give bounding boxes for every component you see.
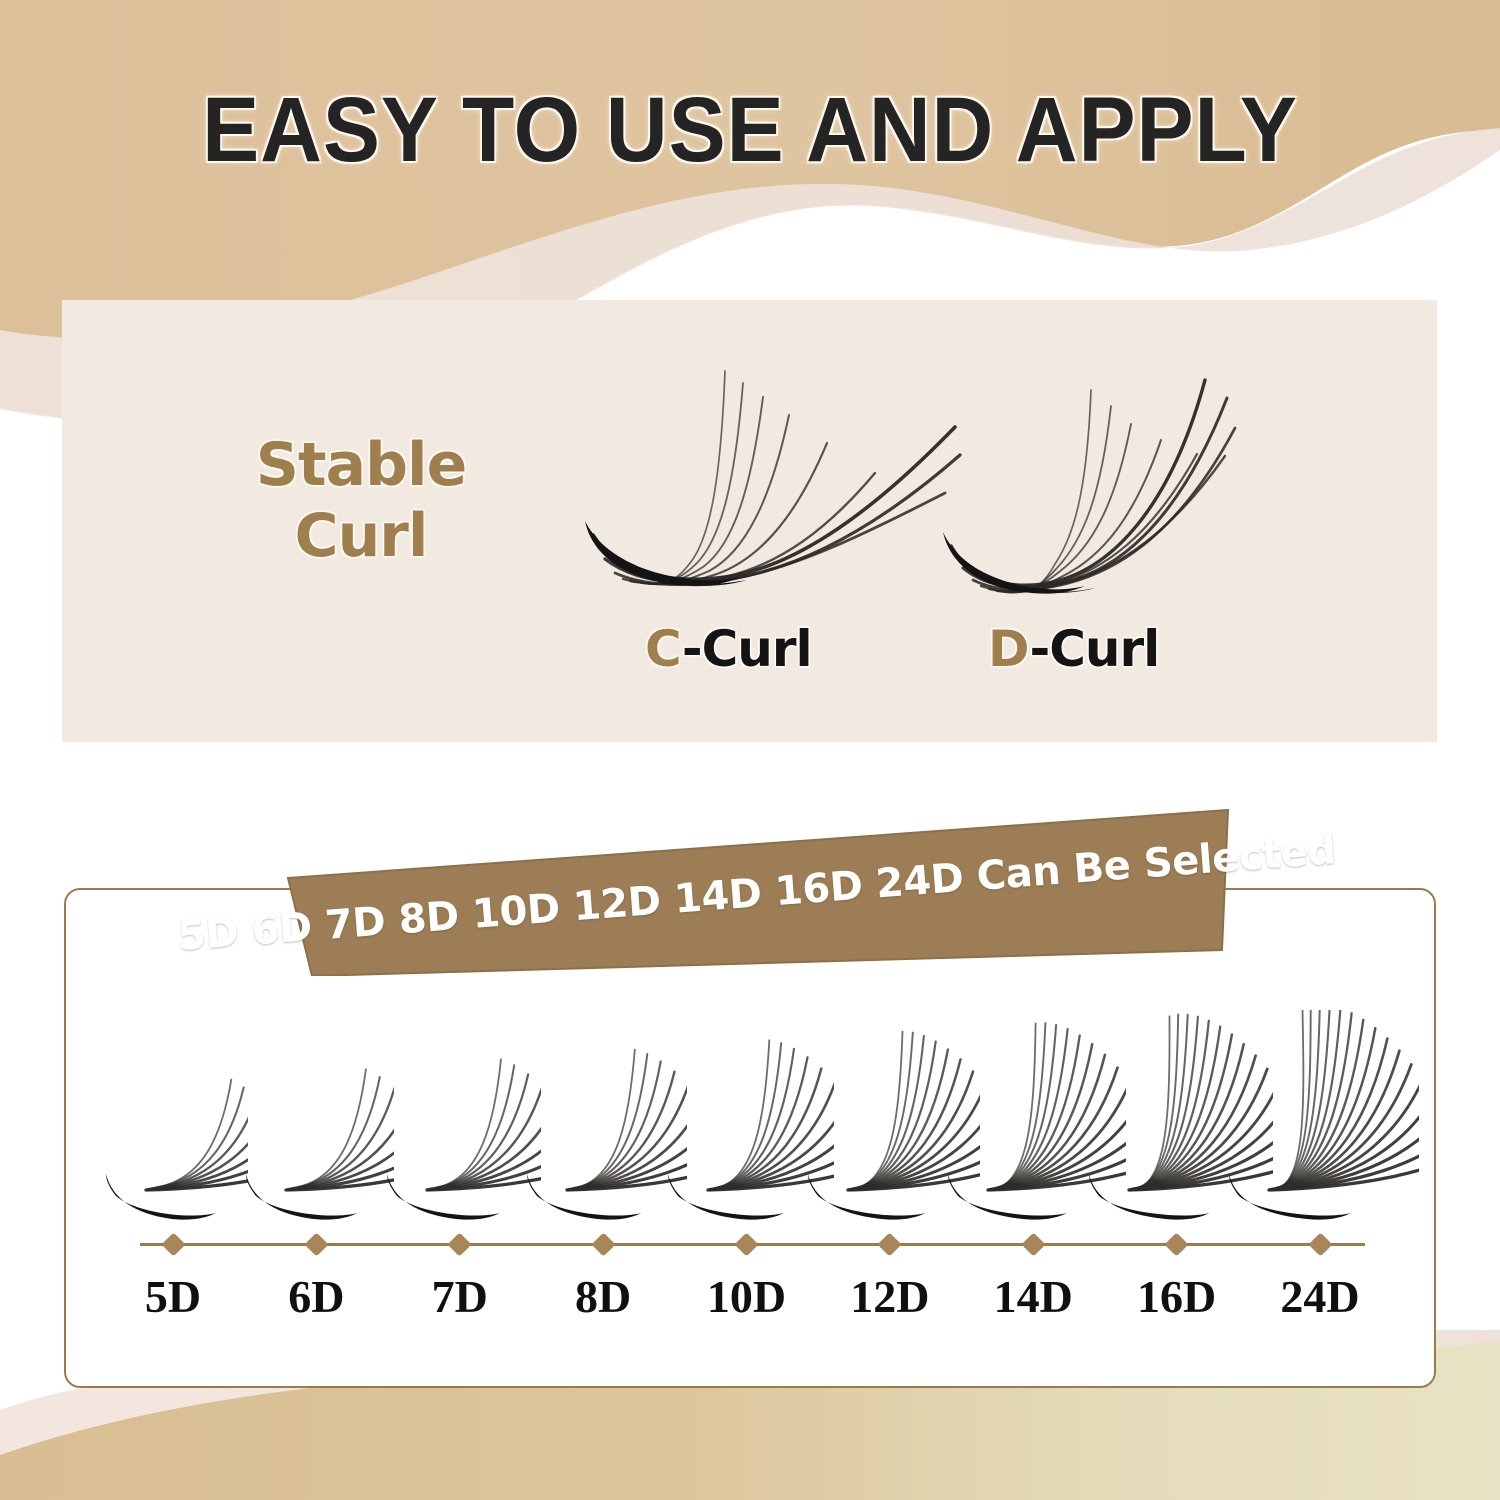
stable-curl-heading-line1: Stable: [196, 430, 526, 501]
d-curl-lash-fan: [935, 370, 1255, 615]
size-label-24d: 24D: [1280, 1270, 1359, 1323]
d-curl-caption: D-Curl: [988, 620, 1159, 678]
lash-fan-6d: [238, 1010, 394, 1225]
size-label-16d: 16D: [1137, 1270, 1216, 1323]
d-curl-suffix: -Curl: [1029, 620, 1159, 678]
infographic-stage: EASY TO USE AND APPLY Stable Curl: [0, 0, 1500, 1500]
fan-row: [64, 1010, 1436, 1225]
selection-ribbon: 5D 6D 7D 8D 10D 12D 14D 16D 24D Can Be S…: [270, 800, 1230, 976]
lash-fan-7d: [379, 1010, 541, 1225]
page-title: EASY TO USE AND APPLY: [53, 78, 1448, 183]
c-curl-prefix: C: [645, 620, 682, 678]
size-label-6d: 6D: [288, 1270, 344, 1323]
stable-curl-heading: Stable Curl: [196, 430, 526, 572]
size-label-5d: 5D: [145, 1270, 201, 1323]
c-curl-caption: C-Curl: [645, 620, 812, 678]
size-timeline: [140, 1243, 1365, 1246]
c-curl-lash-fan: [575, 345, 965, 615]
lash-fan-5d: [98, 1010, 248, 1225]
size-label-7d: 7D: [432, 1270, 488, 1323]
size-label-14d: 14D: [994, 1270, 1073, 1323]
stable-curl-heading-line2: Curl: [196, 501, 526, 572]
size-label-8d: 8D: [575, 1270, 631, 1323]
lash-fan-24d: [1221, 1010, 1419, 1225]
size-label-row: 5D6D7D8D10D12D14D16D24D: [64, 1270, 1436, 1350]
size-label-12d: 12D: [850, 1270, 929, 1323]
ribbon-text-wrap: 5D 6D 7D 8D 10D 12D 14D 16D 24D Can Be S…: [270, 800, 1230, 976]
ribbon-text: 5D 6D 7D 8D 10D 12D 14D 16D 24D Can Be S…: [176, 827, 1337, 960]
size-label-10d: 10D: [707, 1270, 786, 1323]
d-curl-prefix: D: [988, 620, 1029, 678]
c-curl-suffix: -Curl: [682, 620, 812, 678]
